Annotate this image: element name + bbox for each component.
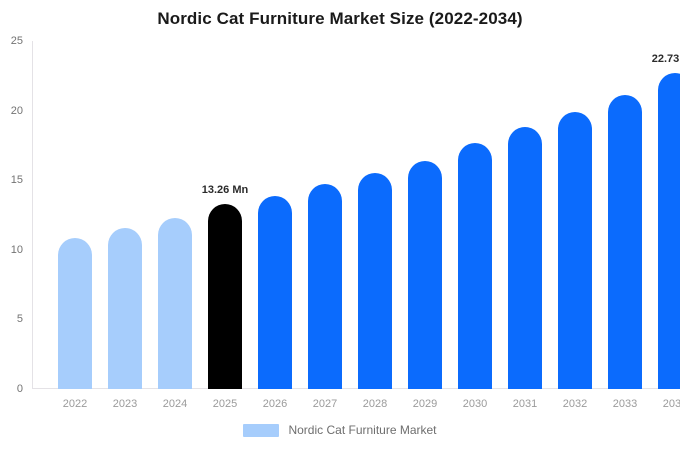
x-axis-tick-label: 2030 [450, 398, 500, 410]
y-axis-tick-label: 15 [11, 174, 23, 186]
bar-2033[interactable] [608, 95, 642, 389]
x-axis-tick-label: 2026 [250, 398, 300, 410]
x-axis-tick-label: 2023 [100, 398, 150, 410]
x-axis-tick-label: 2033 [600, 398, 650, 410]
x-axis-tick-label: 2027 [300, 398, 350, 410]
bar-2024[interactable] [158, 218, 192, 389]
bar-value-label: 13.26 Mn [202, 184, 248, 196]
bar-2023[interactable] [108, 228, 142, 389]
bar-2032[interactable] [558, 112, 592, 389]
bars-layer: 20222023202413.26 Mn20252026202720282029… [32, 41, 672, 389]
bar-2028[interactable] [358, 173, 392, 389]
x-axis-tick-label: 2029 [400, 398, 450, 410]
bar-2027[interactable] [308, 184, 342, 389]
legend-item-label: Nordic Cat Furniture Market [288, 423, 436, 437]
legend-item[interactable]: Nordic Cat Furniture Market [243, 423, 436, 437]
plot-area: 0510152025 20222023202413.26 Mn202520262… [32, 41, 672, 389]
x-axis-tick-label: 2028 [350, 398, 400, 410]
bar-2034[interactable] [658, 73, 680, 389]
x-axis-tick-label: 2031 [500, 398, 550, 410]
bar-chart: Nordic Cat Furniture Market Size (2022-2… [0, 0, 680, 450]
x-axis-tick-label: 2022 [50, 398, 100, 410]
y-axis-tick-label: 25 [11, 35, 23, 47]
bar-2026[interactable] [258, 196, 292, 389]
legend-swatch-icon [243, 424, 279, 437]
y-axis-tick-label: 0 [17, 383, 23, 395]
bar-2031[interactable] [508, 127, 542, 389]
x-axis-tick-label: 2024 [150, 398, 200, 410]
bar-2022[interactable] [58, 238, 92, 389]
bar-value-label: 22.73 Mn [652, 53, 680, 65]
x-axis-tick-label: 2025 [200, 398, 250, 410]
chart-title: Nordic Cat Furniture Market Size (2022-2… [0, 9, 680, 29]
bar-2029[interactable] [408, 161, 442, 389]
x-axis-tick-label: 2032 [550, 398, 600, 410]
bar-2030[interactable] [458, 143, 492, 389]
x-axis-tick-label: 2034 [650, 398, 680, 410]
bar-2025[interactable] [208, 204, 242, 389]
chart-legend: Nordic Cat Furniture Market [0, 423, 680, 437]
y-axis-tick-label: 10 [11, 244, 23, 256]
y-axis-tick-label: 5 [17, 313, 23, 325]
y-axis-tick-label: 20 [11, 105, 23, 117]
